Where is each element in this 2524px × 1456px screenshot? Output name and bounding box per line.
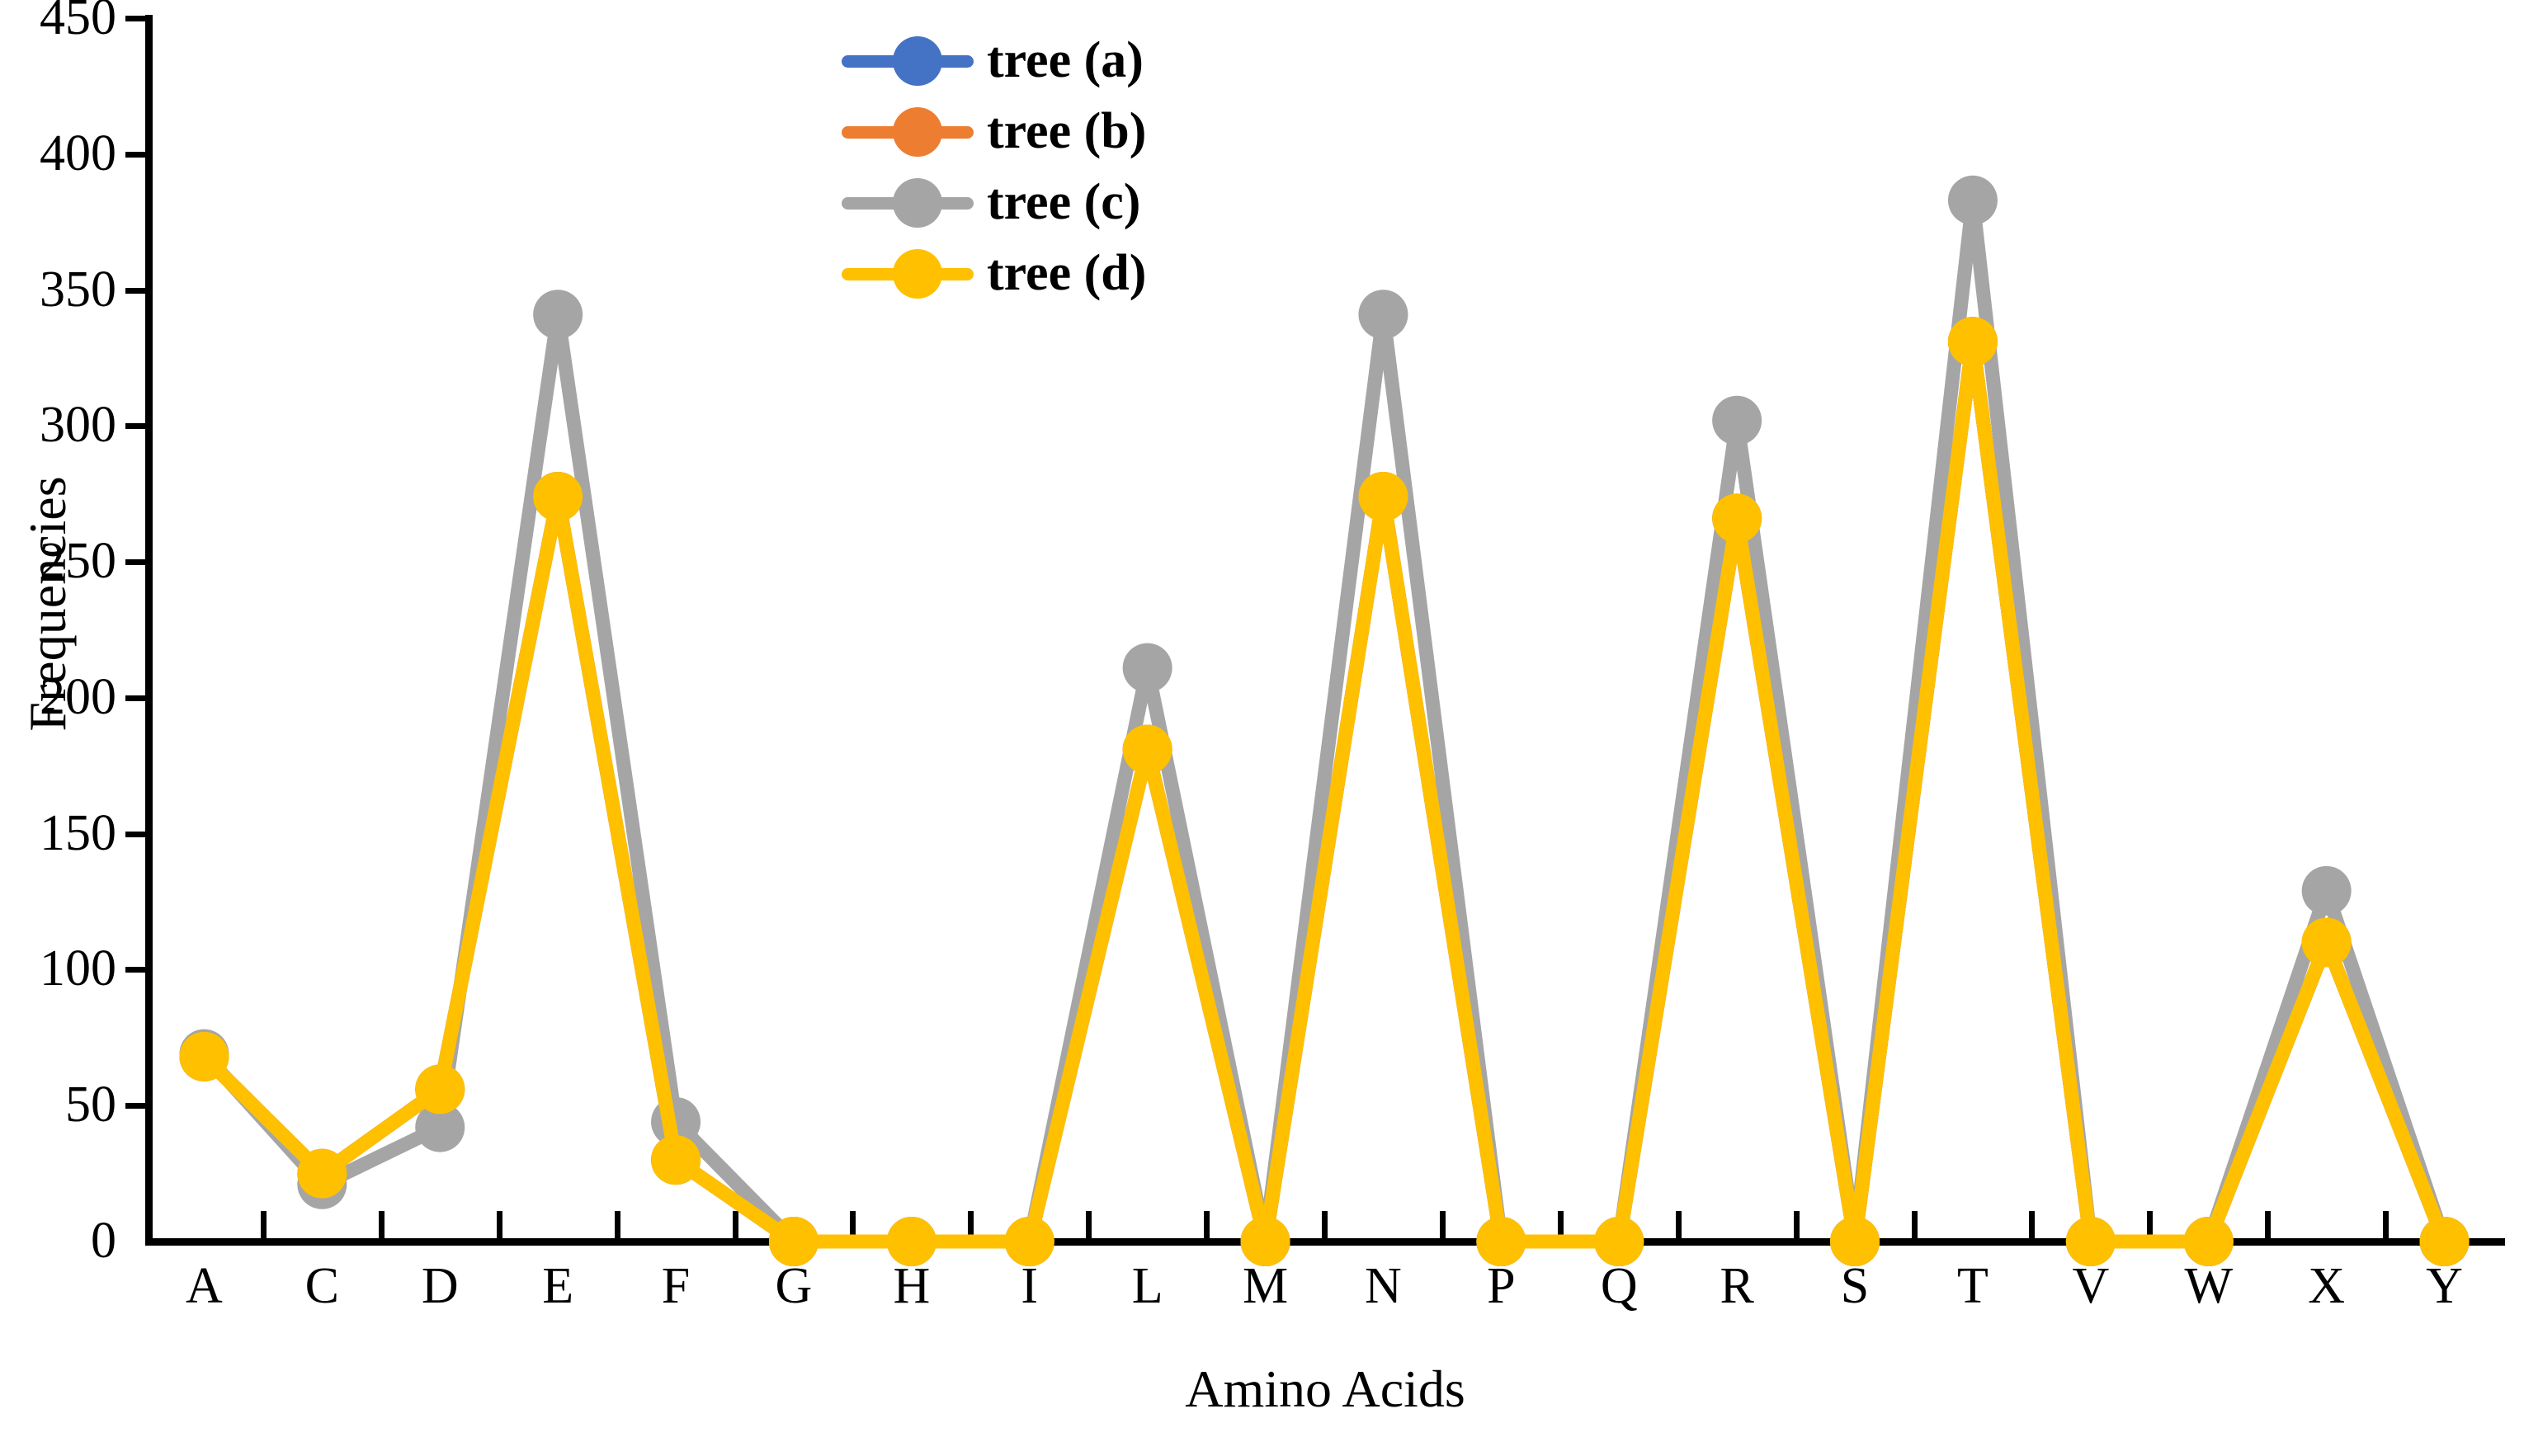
data-point-marker	[1123, 725, 1172, 775]
data-point-marker	[1358, 472, 1408, 521]
data-point-marker	[1123, 643, 1172, 693]
chart-page: 050100150200250300350400450 ACDEFGHILMNP…	[0, 0, 2524, 1456]
y-axis-title: Frequencies	[21, 290, 74, 917]
legend-swatch-icon-tree-c	[842, 177, 974, 227]
y-axis-tick	[125, 423, 147, 429]
y-axis-tick	[125, 1103, 147, 1109]
x-axis-tick-label: A	[154, 1257, 253, 1315]
legend-label-tree-a: tree (a)	[987, 35, 1144, 86]
data-point-marker	[1476, 1217, 1526, 1266]
data-point-marker	[887, 1217, 936, 1266]
data-point-marker	[1005, 1217, 1054, 1266]
plot-area	[145, 18, 2503, 1242]
data-point-marker	[2302, 917, 2352, 967]
y-axis-tick	[125, 152, 147, 158]
y-axis-tick-label: 400	[1, 128, 116, 179]
legend-swatch-icon-tree-b	[842, 106, 974, 156]
series-line	[204, 200, 2444, 1242]
data-point-marker	[297, 1149, 347, 1199]
y-axis-tick-label: 0	[1, 1215, 116, 1266]
data-point-marker	[1358, 290, 1408, 339]
y-axis-tick	[125, 288, 147, 294]
data-point-marker	[415, 1064, 465, 1114]
data-point-marker	[1712, 493, 1762, 543]
legend-label-tree-c: tree (c)	[987, 177, 1140, 228]
legend-label-tree-b: tree (b)	[987, 106, 1146, 157]
x-axis-tick-label: T	[1923, 1257, 2022, 1315]
chart-legend: tree (a) tree (b) tree (c) tree (d)	[842, 25, 1304, 309]
data-point-marker	[1594, 1217, 1644, 1266]
x-axis-tick-label: N	[1333, 1257, 1432, 1315]
y-axis-tick	[125, 559, 147, 565]
legend-swatch-icon-tree-a	[842, 35, 974, 85]
legend-label-tree-d: tree (d)	[987, 247, 1146, 299]
y-axis-tick	[125, 832, 147, 837]
y-axis-tick	[125, 695, 147, 701]
y-axis-tick	[125, 967, 147, 973]
legend-swatch-icon-tree-d	[842, 248, 974, 298]
x-axis-tick-label: E	[508, 1257, 607, 1315]
series-canvas	[145, 18, 2503, 1242]
x-axis-tick-label: C	[272, 1257, 371, 1315]
y-axis-tick-label: 50	[1, 1079, 116, 1130]
x-axis-tick-label: X	[2277, 1257, 2376, 1315]
data-point-marker	[2302, 866, 2352, 916]
data-point-marker	[2066, 1217, 2116, 1266]
legend-item-tree-c[interactable]: tree (c)	[842, 167, 1304, 238]
x-axis-tick-label: F	[626, 1257, 725, 1315]
legend-item-tree-a[interactable]: tree (a)	[842, 25, 1304, 96]
data-point-marker	[179, 1032, 229, 1081]
data-point-marker	[2184, 1217, 2234, 1266]
data-point-marker	[1830, 1217, 1880, 1266]
data-point-marker	[1241, 1217, 1290, 1266]
data-point-marker	[533, 472, 583, 521]
y-axis-tick-label: 450	[1, 0, 116, 43]
data-point-marker	[1948, 317, 1998, 366]
x-axis-tick-label: R	[1687, 1257, 1786, 1315]
y-axis-tick	[125, 16, 147, 21]
legend-item-tree-d[interactable]: tree (d)	[842, 238, 1304, 309]
data-point-marker	[533, 290, 583, 339]
y-axis-tick-label: 100	[1, 943, 116, 994]
x-axis-tick-label: D	[390, 1257, 489, 1315]
data-point-marker	[1712, 396, 1762, 445]
data-point-marker	[769, 1217, 819, 1266]
data-point-marker	[2420, 1217, 2470, 1266]
legend-item-tree-b[interactable]: tree (b)	[842, 96, 1304, 167]
x-axis-title: Amino Acids	[145, 1363, 2505, 1416]
series-treec	[179, 176, 2469, 1266]
data-point-marker	[651, 1135, 701, 1185]
x-axis-tick-label: L	[1098, 1257, 1197, 1315]
data-point-marker	[1948, 176, 1998, 225]
